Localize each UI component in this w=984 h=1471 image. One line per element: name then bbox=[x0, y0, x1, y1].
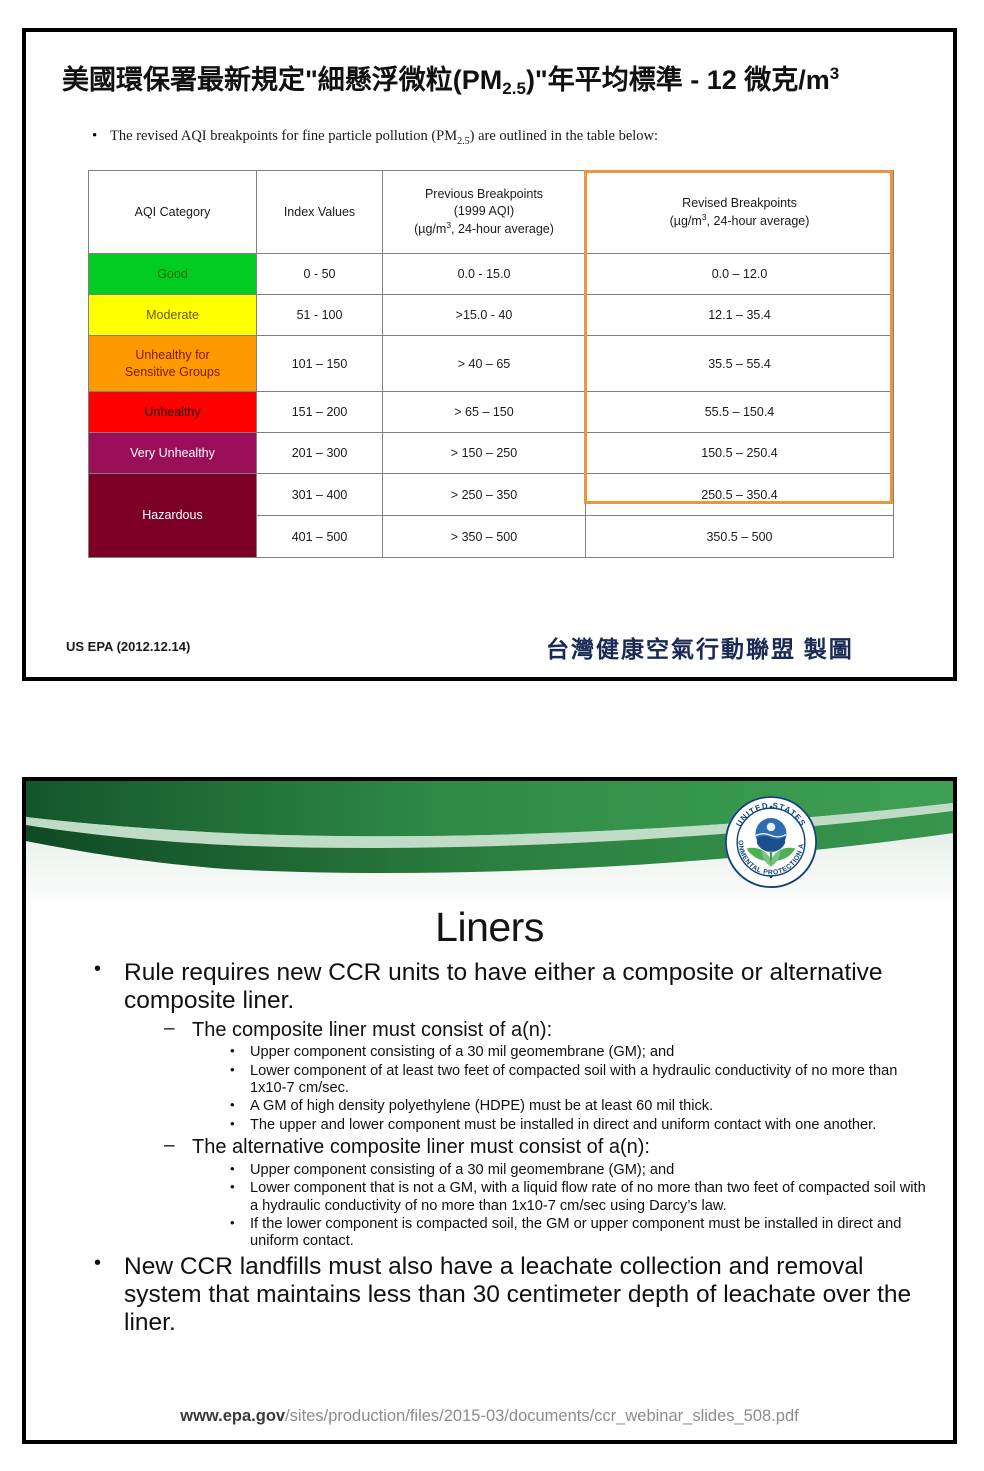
bullet-dot-icon: • bbox=[230, 1116, 235, 1131]
footer-domain: www.epa.gov bbox=[180, 1407, 285, 1425]
cell-revised-breakpoints: 12.1 – 35.4 bbox=[586, 295, 894, 336]
header-prev-line1: Previous Breakpoints bbox=[425, 187, 543, 201]
aqi-table-wrapper: AQI Category Index Values Previous Break… bbox=[88, 170, 893, 558]
cell-index-values: 301 – 400 bbox=[257, 474, 383, 516]
bullet-dot-icon: • bbox=[230, 1097, 235, 1112]
cell-revised-breakpoints: 0.0 – 12.0 bbox=[586, 254, 894, 295]
slide1-title-subscript: 2.5 bbox=[502, 79, 526, 98]
header-rev-line2a: (µg/m bbox=[670, 214, 702, 228]
cell-index-values: 201 – 300 bbox=[257, 433, 383, 474]
bullet-item: •A GM of high density polyethylene (HDPE… bbox=[228, 1098, 935, 1115]
bullet-dash-icon: – bbox=[164, 1135, 175, 1157]
bullet-text: The composite liner must consist of a(n)… bbox=[192, 1019, 552, 1041]
bullet-text: New CCR landfills must also have a leach… bbox=[124, 1253, 911, 1337]
bullet-item: •Lower component of at least two feet of… bbox=[228, 1063, 935, 1098]
header-revised-breakpoints: Revised Breakpoints (µg/m3, 24-hour aver… bbox=[586, 171, 894, 254]
table-row: Moderate51 - 100>15.0 - 4012.1 – 35.4 bbox=[89, 295, 894, 336]
cell-previous-breakpoints: >15.0 - 40 bbox=[383, 295, 586, 336]
cell-aqi-category: Unhealthy bbox=[89, 392, 257, 433]
slide1-title: 美國環保署最新規定"細懸浮微粒(PM2.5)"年平均標準 - 12 微克/m3 bbox=[62, 58, 935, 99]
bullet-text: Upper component consisting of a 30 mil g… bbox=[250, 1044, 674, 1060]
bullet-list-level-2: –The composite liner must consist of a(n… bbox=[124, 1019, 935, 1251]
slide1-bullet-text-pre: The revised AQI breakpoints for fine par… bbox=[110, 128, 457, 144]
cell-aqi-category: Good bbox=[89, 254, 257, 295]
bullet-dot-icon: • bbox=[230, 1043, 235, 1058]
bullet-text: Lower component that is not a GM, with a… bbox=[250, 1180, 926, 1213]
cell-revised-breakpoints: 250.5 – 350.4 bbox=[586, 474, 894, 516]
cell-index-values: 401 – 500 bbox=[257, 516, 383, 558]
slide-aqi-breakpoints: 美國環保署最新規定"細懸浮微粒(PM2.5)"年平均標準 - 12 微克/m3 … bbox=[22, 28, 957, 681]
bullet-item: •Rule requires new CCR units to have eit… bbox=[88, 959, 935, 1251]
aqi-breakpoints-table: AQI Category Index Values Previous Break… bbox=[88, 170, 894, 558]
table-row: Good0 - 500.0 - 15.00.0 – 12.0 bbox=[89, 254, 894, 295]
aqi-table-body: Good0 - 500.0 - 15.00.0 – 12.0Moderate51… bbox=[89, 254, 894, 558]
cell-previous-breakpoints: 0.0 - 15.0 bbox=[383, 254, 586, 295]
header-rev-line2b: , 24-hour average) bbox=[707, 214, 810, 228]
bullet-text: If the lower component is compacted soil… bbox=[250, 1216, 901, 1249]
slide2-source-footer: www.epa.gov/sites/production/files/2015-… bbox=[26, 1407, 953, 1426]
header-previous-breakpoints: Previous Breakpoints (1999 AQI) (µg/m3, … bbox=[383, 171, 586, 254]
cell-previous-breakpoints: > 65 – 150 bbox=[383, 392, 586, 433]
bullet-item: •If the lower component is compacted soi… bbox=[228, 1216, 935, 1251]
liners-bullet-list: •Rule requires new CCR units to have eit… bbox=[26, 959, 953, 1338]
bullet-text: Rule requires new CCR units to have eith… bbox=[124, 959, 883, 1014]
cell-aqi-category: Moderate bbox=[89, 295, 257, 336]
cell-previous-breakpoints: > 40 – 65 bbox=[383, 336, 586, 392]
bullet-text: Upper component consisting of a 30 mil g… bbox=[250, 1162, 674, 1178]
bullet-dot-icon: • bbox=[230, 1161, 235, 1176]
bullet-item: •The upper and lower component must be i… bbox=[228, 1117, 935, 1134]
header-prev-line3b: , 24-hour average) bbox=[451, 222, 554, 236]
table-row: Hazardous301 – 400> 250 – 350250.5 – 350… bbox=[89, 474, 894, 516]
bullet-text: Lower component of at least two feet of … bbox=[250, 1063, 897, 1096]
cell-previous-breakpoints: > 350 – 500 bbox=[383, 516, 586, 558]
bullet-dot-icon: • bbox=[230, 1215, 235, 1230]
cell-revised-breakpoints: 150.5 – 250.4 bbox=[586, 433, 894, 474]
bullet-item: •Upper component consisting of a 30 mil … bbox=[228, 1162, 935, 1179]
bullet-item: •Upper component consisting of a 30 mil … bbox=[228, 1044, 935, 1061]
cell-revised-breakpoints: 35.5 – 55.4 bbox=[586, 336, 894, 392]
bullet-text: The alternative composite liner must con… bbox=[192, 1136, 650, 1158]
slide-liners: UNITED STATES ENVIRONMENTAL PROTECTION A… bbox=[22, 777, 957, 1444]
cell-index-values: 151 – 200 bbox=[257, 392, 383, 433]
table-header-row: AQI Category Index Values Previous Break… bbox=[89, 171, 894, 254]
bullet-item: –The alternative composite liner must co… bbox=[162, 1136, 935, 1250]
footer-path: /sites/production/files/2015-03/document… bbox=[285, 1407, 799, 1425]
bullet-dot-icon: • bbox=[94, 958, 101, 981]
bullet-item: •New CCR landfills must also have a leac… bbox=[88, 1253, 935, 1338]
bullet-text: A GM of high density polyethylene (HDPE)… bbox=[250, 1098, 713, 1114]
bullet-item: •Lower component that is not a GM, with … bbox=[228, 1180, 935, 1215]
table-row: Very Unhealthy201 – 300> 150 – 250150.5 … bbox=[89, 433, 894, 474]
bullet-text: The upper and lower component must be in… bbox=[250, 1117, 876, 1133]
bullet-dot-icon: • bbox=[92, 128, 110, 145]
header-prev-line2: (1999 AQI) bbox=[454, 204, 514, 218]
slide1-bullet-text-post: ) are outlined in the table below: bbox=[470, 128, 658, 144]
cell-revised-breakpoints: 350.5 – 500 bbox=[586, 516, 894, 558]
slide1-title-superscript: 3 bbox=[830, 64, 839, 83]
table-row: Unhealthy151 – 200> 65 – 15055.5 – 150.4 bbox=[89, 392, 894, 433]
cell-index-values: 101 – 150 bbox=[257, 336, 383, 392]
bullet-list-level-3: •Upper component consisting of a 30 mil … bbox=[192, 1044, 935, 1134]
header-prev-line3a: (µg/m bbox=[414, 222, 446, 236]
cell-index-values: 51 - 100 bbox=[257, 295, 383, 336]
cell-aqi-category: Very Unhealthy bbox=[89, 433, 257, 474]
cell-previous-breakpoints: > 250 – 350 bbox=[383, 474, 586, 516]
slide1-bullet-subscript: 2.5 bbox=[457, 136, 470, 147]
cell-aqi-category: Hazardous bbox=[89, 474, 257, 558]
cell-previous-breakpoints: > 150 – 250 bbox=[383, 433, 586, 474]
bullet-dot-icon: • bbox=[94, 1252, 101, 1275]
header-index-values: Index Values bbox=[257, 171, 383, 254]
slide1-title-middle: )"年平均標準 - 12 微克/m bbox=[526, 65, 830, 95]
bullet-dot-icon: • bbox=[230, 1179, 235, 1194]
slide2-title: Liners bbox=[26, 904, 953, 951]
bullet-dash-icon: – bbox=[164, 1018, 175, 1040]
bullet-item: –The composite liner must consist of a(n… bbox=[162, 1019, 935, 1134]
bullet-list-level-3: •Upper component consisting of a 30 mil … bbox=[192, 1162, 935, 1251]
slide1-credit-label: 台灣健康空氣行動聯盟 製圖 bbox=[546, 630, 854, 664]
slide1-title-prefix: 美國環保署最新規定"細懸浮微粒(PM bbox=[62, 65, 502, 95]
slide1-source-label: US EPA (2012.12.14) bbox=[66, 639, 190, 654]
cell-revised-breakpoints: 55.5 – 150.4 bbox=[586, 392, 894, 433]
epa-seal-logo: UNITED STATES ENVIRONMENTAL PROTECTION A… bbox=[724, 795, 818, 889]
table-row: Unhealthy forSensitive Groups101 – 150> … bbox=[89, 336, 894, 392]
slide2-body: •Rule requires new CCR units to have eit… bbox=[26, 959, 953, 1340]
header-aqi-category: AQI Category bbox=[89, 171, 257, 254]
cell-index-values: 0 - 50 bbox=[257, 254, 383, 295]
cell-aqi-category: Unhealthy forSensitive Groups bbox=[89, 336, 257, 392]
bullet-dot-icon: • bbox=[230, 1062, 235, 1077]
slide1-intro-bullet: •The revised AQI breakpoints for fine pa… bbox=[92, 128, 658, 147]
header-rev-line1: Revised Breakpoints bbox=[682, 196, 797, 210]
